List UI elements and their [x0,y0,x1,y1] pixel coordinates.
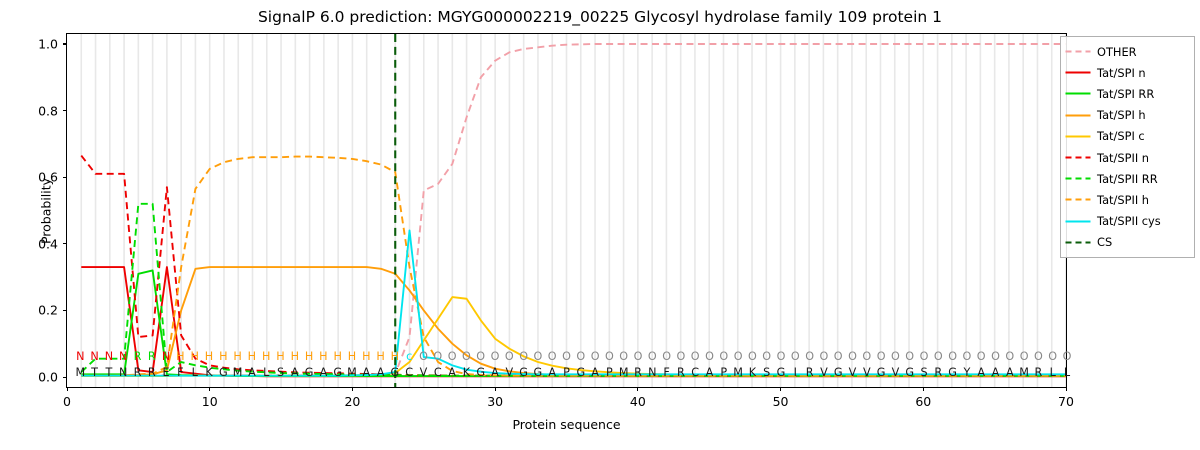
legend-swatch-icon [1065,152,1091,163]
region-label: O [491,349,500,364]
residue-label: G [391,365,400,380]
residue-label: T [91,365,98,380]
residue-label: I [794,365,797,380]
residue-label: A [291,365,299,380]
legend-swatch-icon [1065,237,1091,248]
region-label: O [448,349,457,364]
region-label: O [1005,349,1014,364]
residue-label: M [619,365,629,380]
region-label: N [76,349,84,364]
region-label: N [162,349,170,364]
x-tick-label: 10 [202,394,218,409]
region-label: O [505,349,514,364]
region-label: O [1063,349,1072,364]
residue-label: T [105,365,112,380]
residue-label: A [548,365,556,380]
x-tick-label: 70 [1058,394,1074,409]
region-label: O [533,349,542,364]
legend: OTHERTat/SPI nTat/SPI RRTat/SPI hTat/SPI… [1060,36,1195,258]
y-tick-mark [63,110,67,111]
x-tick-mark [780,387,781,391]
residue-label: K [205,365,212,380]
residue-label: M [1019,365,1029,380]
region-label: H [291,349,299,364]
y-axis-label: Probability [39,177,54,243]
y-tick-mark [63,177,67,178]
protein-sequence-row: MTTNRREFLKGMALSAGAGMAAGCVCAKGAVGGAPGAPMR… [66,365,1067,380]
residue-label: R [634,365,642,380]
region-label: O [548,349,557,364]
legend-swatch-icon [1065,173,1091,184]
residue-label: G [476,365,485,380]
legend-item[interactable]: Tat/SPII cys [1065,211,1189,232]
region-label: O [719,349,728,364]
residue-label: V [505,365,513,380]
legend-item[interactable]: Tat/SPII n [1065,147,1189,168]
residue-label: G [333,365,342,380]
region-label: c [406,349,412,364]
region-label: H [391,349,399,364]
y-tick-label: 0.8 [38,103,58,118]
residue-label: N [648,365,656,380]
region-label: O [748,349,757,364]
residue-label: F [663,365,669,380]
region-label: O [834,349,843,364]
x-tick-label: 40 [630,394,646,409]
region-label: R [134,349,142,364]
y-tick-label: 0.2 [38,303,58,318]
region-label: O [419,349,428,364]
region-label: H [262,349,270,364]
residue-label: G [905,365,914,380]
residue-label: R [934,365,942,380]
legend-swatch-icon [1065,88,1091,99]
region-label: O [877,349,886,364]
region-label: H [305,349,313,364]
legend-swatch-icon [1065,194,1091,205]
residue-label: V [820,365,828,380]
region-label: O [619,349,628,364]
legend-label: Tat/SPI c [1097,129,1145,143]
residue-label: F [177,365,183,380]
region-label: H [176,349,184,364]
region-label: O [805,349,814,364]
legend-label: Tat/SPII RR [1097,172,1158,186]
region-label: O [605,349,614,364]
legend-item[interactable]: Tat/SPI n [1065,62,1189,83]
x-axis-label: Protein sequence [67,417,1066,432]
region-label: O [576,349,585,364]
x-tick-label: 20 [344,394,360,409]
legend-label: Tat/SPII h [1097,193,1149,207]
residue-label: M [75,365,85,380]
legend-swatch-icon [1065,131,1091,142]
region-label: O [920,349,929,364]
series-lines [67,34,1066,387]
region-annotation-row: NNNNRRNHHHHHHHHHHHHHHHHcOOOOOOOOOOOOOOOO… [66,349,1067,364]
x-tick-label: 50 [773,394,789,409]
y-tick-label: 0.4 [38,236,58,251]
residue-label: V [849,365,857,380]
residue-label: G [777,365,786,380]
region-label: H [190,349,198,364]
region-label: O [734,349,743,364]
x-tick-mark [923,387,924,391]
x-tick-mark [209,387,210,391]
residue-label: M [347,365,357,380]
residue-label: L [1050,365,1056,380]
residue-label: V [863,365,871,380]
region-label: O [662,349,671,364]
residue-label: M [733,365,743,380]
y-tick-mark [63,43,67,44]
x-tick-mark [495,387,496,391]
region-label: O [676,349,685,364]
legend-swatch-icon [1065,67,1091,78]
region-label: O [948,349,957,364]
residue-label: A [706,365,714,380]
residue-label: K [749,365,756,380]
region-label: O [891,349,900,364]
residue-label: P [563,365,570,380]
residue-label: S [277,365,284,380]
residue-label: R [806,365,814,380]
residue-label: L [263,365,269,380]
y-tick-label: 0.0 [38,370,58,385]
residue-label: C [691,365,699,380]
region-label: O [562,349,571,364]
x-tick-mark [637,387,638,391]
region-label: H [362,349,370,364]
residue-label: A [1006,365,1014,380]
legend-label: Tat/SPII n [1097,151,1149,165]
region-label: O [691,349,700,364]
legend-item[interactable]: OTHER [1065,41,1189,62]
region-label: O [977,349,986,364]
residue-label: R [1035,365,1043,380]
residue-label: A [362,365,370,380]
x-tick-label: 60 [915,394,931,409]
legend-label: Tat/SPI RR [1097,87,1154,101]
region-label: O [705,349,714,364]
residue-label: N [119,365,127,380]
residue-label: A [491,365,499,380]
region-label: O [962,349,971,364]
region-label: O [462,349,471,364]
legend-swatch-icon [1065,216,1091,227]
plot-area: Probability 0.00.20.40.60.81.0 010203040… [66,33,1067,388]
region-label: O [634,349,643,364]
region-label: R [148,349,156,364]
residue-label: A [992,365,1000,380]
residue-label: V [892,365,900,380]
region-label: O [433,349,442,364]
region-label: H [348,349,356,364]
residue-label: G [219,365,228,380]
legend-label: Tat/SPI n [1097,66,1146,80]
legend-swatch-icon [1065,46,1091,57]
region-label: O [519,349,528,364]
residue-label: Y [963,365,970,380]
region-label: N [105,349,113,364]
residue-label: L [1064,365,1070,380]
y-tick-mark [63,243,67,244]
region-label: O [862,349,871,364]
region-label: O [777,349,786,364]
residue-label: G [534,365,543,380]
residue-label: R [134,365,142,380]
residue-label: G [877,365,886,380]
residue-label: R [148,365,156,380]
x-tick-label: 0 [63,394,71,409]
legend-label: CS [1097,235,1112,249]
region-label: H [205,349,213,364]
legend-label: Tat/SPI h [1097,108,1146,122]
region-label: O [762,349,771,364]
residue-label: K [463,365,470,380]
residue-label: L [192,365,198,380]
region-label: H [248,349,256,364]
region-label: O [905,349,914,364]
legend-swatch-icon [1065,110,1091,121]
legend-item[interactable]: Tat/SPI c [1065,126,1189,147]
residue-label: A [977,365,985,380]
legend-label: Tat/SPII cys [1097,214,1161,228]
region-label: H [276,349,284,364]
region-label: O [819,349,828,364]
legend-item[interactable]: Tat/SPII RR [1065,168,1189,189]
y-tick-label: 1.0 [38,36,58,51]
region-label: O [1020,349,1029,364]
residue-label: V [420,365,428,380]
region-label: H [333,349,341,364]
y-tick-mark [63,310,67,311]
x-tick-mark [1066,387,1067,391]
residue-label: S [763,365,770,380]
residue-label: R [677,365,685,380]
residue-label: S [920,365,927,380]
x-tick-mark [352,387,353,391]
region-label: O [1048,349,1057,364]
region-label: O [476,349,485,364]
legend-item[interactable]: Tat/SPI RR [1065,83,1189,104]
region-label: H [376,349,384,364]
residue-label: M [233,365,243,380]
region-label: O [791,349,800,364]
residue-label: C [434,365,442,380]
region-label: H [219,349,227,364]
residue-label: P [606,365,613,380]
region-label: O [591,349,600,364]
residue-label: A [591,365,599,380]
residue-label: E [163,365,170,380]
region-label: O [934,349,943,364]
x-tick-mark [67,387,68,391]
residue-label: A [448,365,456,380]
residue-label: P [720,365,727,380]
residue-label: G [519,365,528,380]
legend-item[interactable]: CS [1065,232,1189,253]
residue-label: G [576,365,585,380]
legend-item[interactable]: Tat/SPI h [1065,105,1189,126]
region-label: O [648,349,657,364]
residue-label: C [405,365,413,380]
region-label: H [233,349,241,364]
residue-label: A [377,365,385,380]
residue-label: G [948,365,957,380]
region-label: O [1034,349,1043,364]
chart-title: SignalP 6.0 prediction: MGYG000002219_00… [0,8,1200,26]
residue-label: G [834,365,843,380]
region-label: N [119,349,127,364]
residue-label: A [320,365,328,380]
region-label: H [319,349,327,364]
region-label: O [991,349,1000,364]
legend-label: OTHER [1097,45,1137,59]
region-label: N [90,349,98,364]
region-label: O [848,349,857,364]
residue-label: G [305,365,314,380]
y-tick-label: 0.6 [38,170,58,185]
legend-item[interactable]: Tat/SPII h [1065,189,1189,210]
x-tick-label: 30 [487,394,503,409]
residue-label: A [248,365,256,380]
